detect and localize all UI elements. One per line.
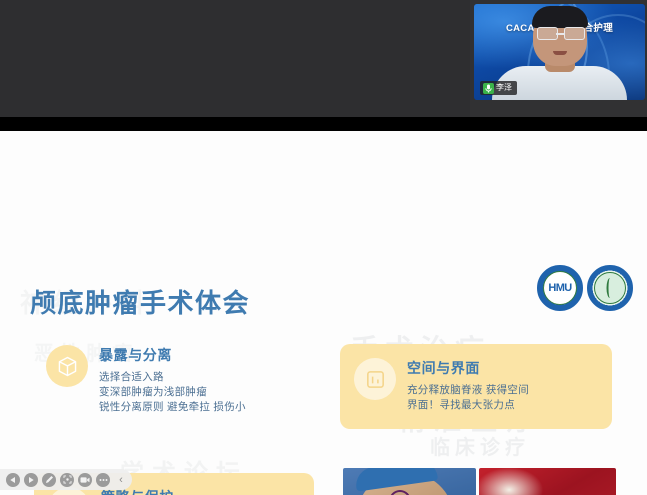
webinar-screen: CACA精准诊疗整合护理 论坛 李泽 神经外科 [0,0,647,495]
annotate-button[interactable] [42,473,56,487]
hospital-logo [587,265,633,311]
presenter-video-tile[interactable]: CACA精准诊疗整合护理 论坛 李泽 [474,4,645,100]
video-band: CACA精准诊疗整合护理 论坛 李泽 [0,0,647,131]
more-button[interactable] [96,473,110,487]
video-band-backdrop-left [0,0,470,117]
book-icon [354,358,396,400]
card-line: 锐性分离原则 避免牵拉 损伤小 [99,400,246,415]
card-line: 选择合适入路 [99,370,246,385]
collapse-toolbar-button[interactable]: ‹ [114,473,128,487]
content-card-text: 空间与界面 充分释放脑脊液 获得空间 界面！寻找最大张力点 [396,358,529,413]
watermark-text: 临床诊疗 [430,431,530,460]
video-button[interactable] [78,473,92,487]
surgical-photo-collage [343,468,616,495]
content-card-exposure: 暴露与分离 选择合适入路 变深部肿瘤为浅部肿瘤 锐性分离原则 避免牵拉 损伤小 [46,345,246,415]
presenter-hair [532,6,588,28]
playback-toolbar: ‹ [0,469,132,490]
content-card-text: 暴露与分离 选择合适入路 变深部肿瘤为浅部肿瘤 锐性分离原则 避免牵拉 损伤小 [88,345,246,415]
card-heading: 暴露与分离 [99,345,246,365]
presenter-glasses-bridge [556,33,564,35]
hmu-logo: HMU [537,265,583,311]
presenter-glasses-left [537,27,558,40]
presenter-name-badge: 李泽 [480,81,517,95]
card-line: 界面！寻找最大张力点 [407,398,529,413]
cube-icon [46,345,88,387]
card-line: 变深部肿瘤为浅部肿瘤 [99,385,246,400]
patient-positioning-photo [343,468,476,495]
presenter-glasses-right [564,27,585,40]
presenter-mouth [553,51,567,55]
focus-button[interactable] [60,473,74,487]
presenter-name-label: 李泽 [496,81,512,95]
microphone-icon [483,83,494,94]
page-title: 颅底肿瘤手术体会 [30,283,250,320]
presentation-slide: 神经外科 恶性肿瘤 手术治疗 脑胶质瘤 精准医疗 临床诊疗 学术论坛 颅底肿瘤手… [0,131,647,495]
operative-photo-column [479,468,616,495]
content-card-space: 空间与界面 充分释放脑脊液 获得空间 界面！寻找最大张力点 [340,344,612,429]
play-button[interactable] [24,473,38,487]
card-heading: 空间与界面 [407,358,529,378]
previous-button[interactable] [6,473,20,487]
caduceus-icon [607,278,614,298]
institution-logos: HMU [537,265,633,311]
hmu-logo-text: HMU [538,266,582,310]
operative-field-photo-1 [479,468,616,495]
card-line: 充分释放脑脊液 获得空间 [407,383,529,398]
